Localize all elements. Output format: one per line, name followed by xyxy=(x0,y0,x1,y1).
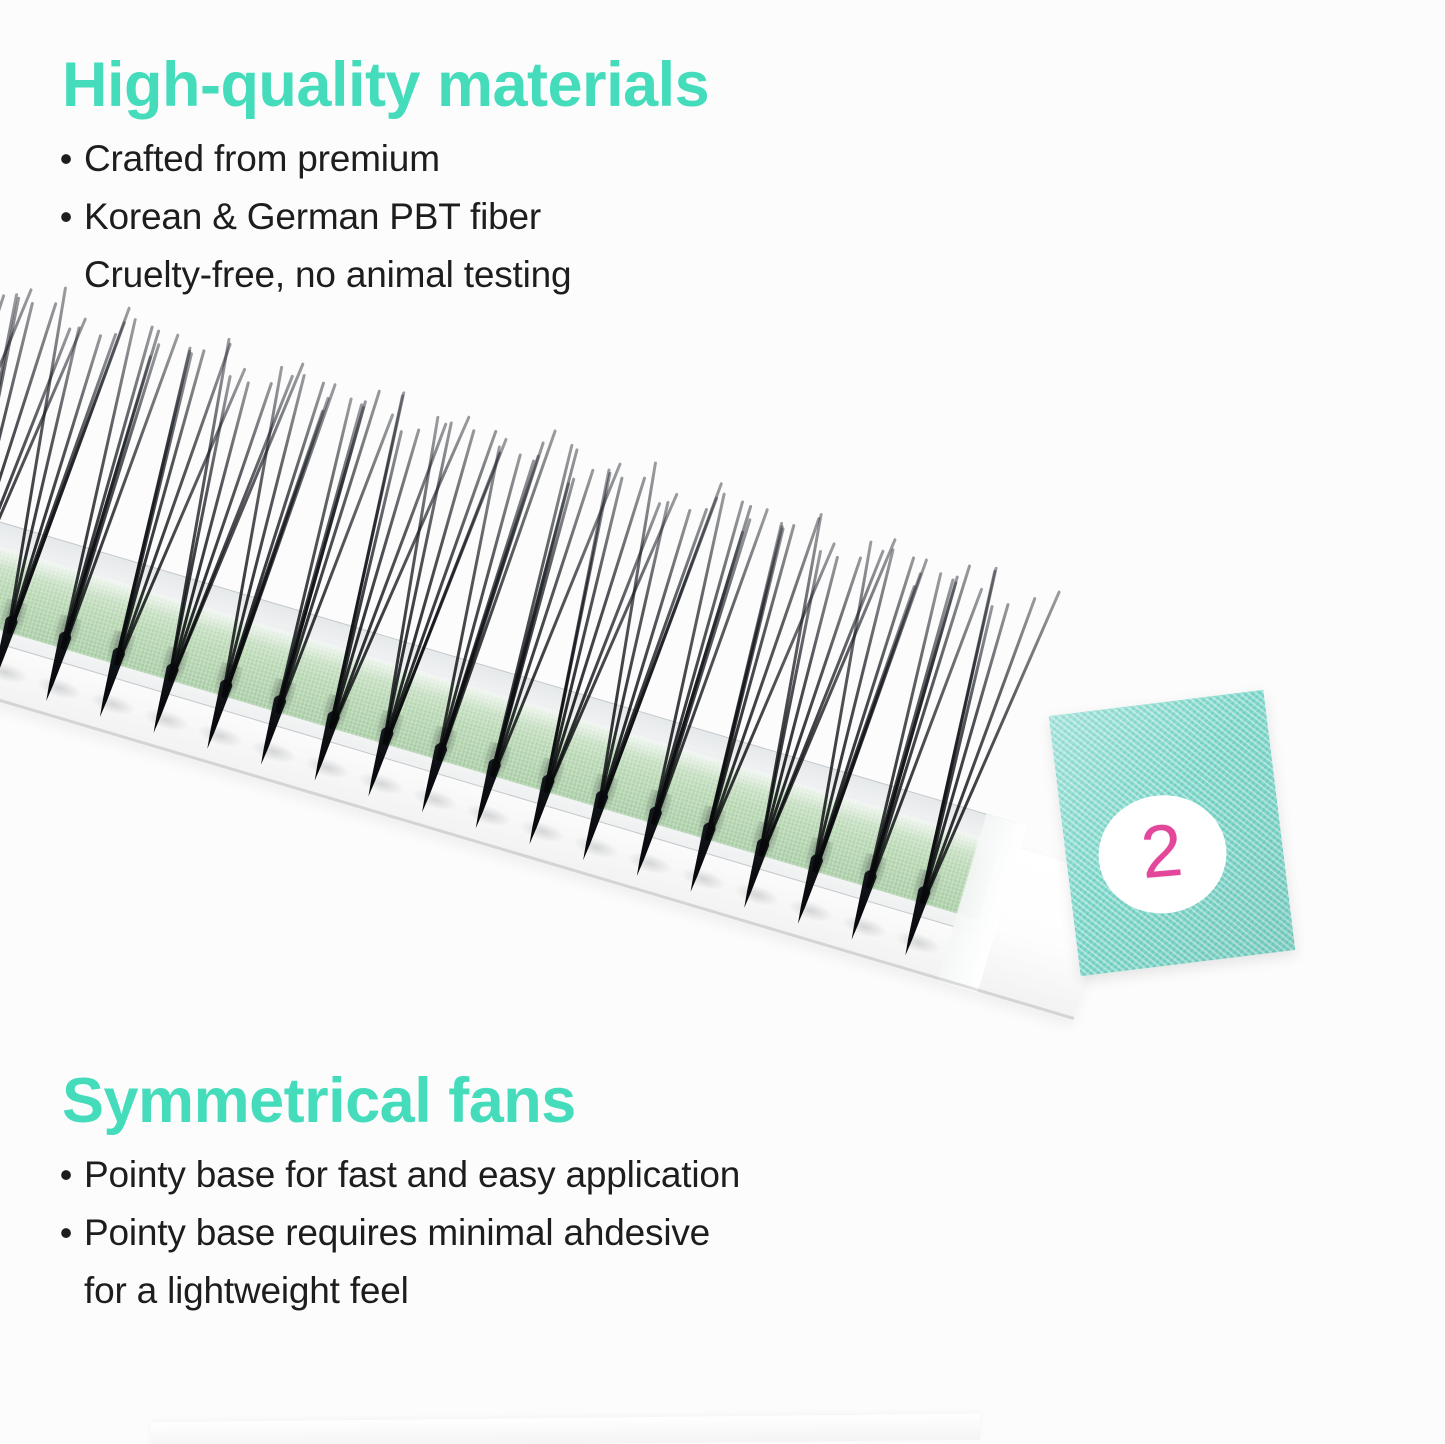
bottom-edge-card xyxy=(150,1414,980,1444)
section-bullet-list: • Pointy base for fast and easy applicat… xyxy=(0,1152,900,1314)
tab-number-label: 2 xyxy=(1138,813,1185,890)
bullet-continuation-item: • for a lightweight feel xyxy=(0,1268,900,1314)
bullet-dot-icon: • xyxy=(48,1152,84,1198)
lash-fan xyxy=(437,760,439,762)
bullet-continuation-item: • Cruelty-free, no animal testing xyxy=(0,252,900,298)
lash-fan xyxy=(222,696,224,698)
lash-fan xyxy=(330,728,332,730)
section-bullet-list: • Crafted from premium • Korean & German… xyxy=(0,136,900,298)
section-heading: High-quality materials xyxy=(62,52,900,118)
bullet-text: Pointy base for fast and easy applicatio… xyxy=(84,1152,740,1198)
lash-fan xyxy=(813,871,815,873)
lash-fan xyxy=(705,839,707,841)
section-heading: Symmetrical fans xyxy=(62,1068,900,1134)
bullet-item: • Korean & German PBT fiber xyxy=(0,194,900,240)
bullet-text: Crafted from premium xyxy=(84,136,440,182)
lash-tray-number-tab: 2 xyxy=(1049,690,1295,976)
lash-fan xyxy=(866,887,868,889)
lash-fan xyxy=(61,648,63,650)
bullet-text: Pointy base requires minimal ahdesive xyxy=(84,1210,710,1256)
lash-fan xyxy=(544,791,546,793)
bullet-item: • Crafted from premium xyxy=(0,136,900,182)
bullet-text: Korean & German PBT fiber xyxy=(84,194,541,240)
lash-fan xyxy=(115,664,117,666)
bullet-spacer: • xyxy=(48,1268,84,1314)
bullet-item: • Pointy base for fast and easy applicat… xyxy=(0,1152,900,1198)
lash-fan xyxy=(598,807,600,809)
lash-fan xyxy=(7,632,9,634)
lash-fan xyxy=(276,712,278,714)
bullet-spacer: • xyxy=(48,252,84,298)
bullet-text: for a lightweight feel xyxy=(84,1268,409,1314)
bullet-item: • Pointy base requires minimal ahdesive xyxy=(0,1210,900,1256)
lash-fan xyxy=(491,775,493,777)
bullet-text: Cruelty-free, no animal testing xyxy=(84,252,571,298)
lash-fan xyxy=(759,855,761,857)
lash-fan xyxy=(383,744,385,746)
section-symmetrical-fans: Symmetrical fans • Pointy base for fast … xyxy=(0,1068,900,1326)
product-feature-graphic: 2 High-quality materials • Crafted from … xyxy=(0,0,1445,1444)
bullet-dot-icon: • xyxy=(48,136,84,182)
lash-fan xyxy=(920,903,922,905)
lash-fan xyxy=(168,680,170,682)
section-high-quality-materials: High-quality materials • Crafted from pr… xyxy=(0,52,900,310)
lash-fan xyxy=(652,823,654,825)
bullet-dot-icon: • xyxy=(48,1210,84,1256)
bullet-dot-icon: • xyxy=(48,194,84,240)
